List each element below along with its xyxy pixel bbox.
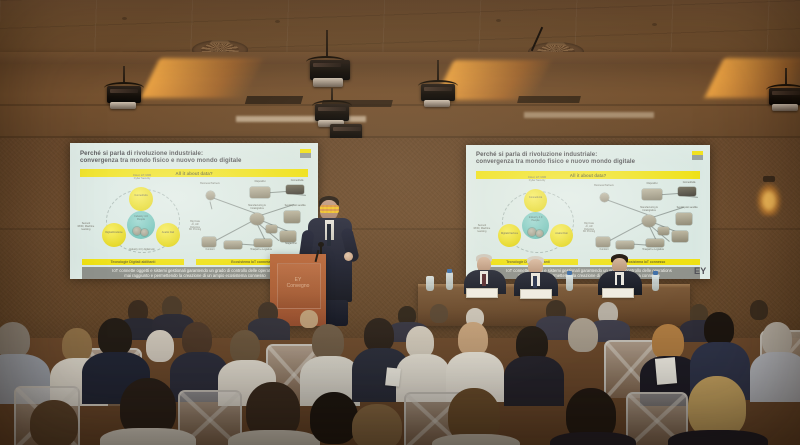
conference-photo: Perché si parla di rivoluzione industria…: [0, 0, 800, 445]
network-node: [266, 225, 277, 233]
program-paper: [655, 357, 677, 385]
network-node: [678, 187, 696, 196]
triad-node-label: Digitalizzazione: [498, 233, 521, 236]
network-node: [250, 187, 270, 198]
audience-head: [750, 300, 768, 320]
network-node: [286, 185, 304, 194]
network-node-label: Trasporti e Logistica: [638, 249, 668, 252]
stage-light: [418, 60, 458, 120]
slide-band-left: Tecnologie Digitali abilitanti: [82, 259, 184, 265]
bottle-cap: [653, 271, 658, 275]
audience-head: [430, 304, 448, 323]
presenter-tie: [327, 224, 331, 246]
fluorescent-strip: [524, 112, 654, 118]
triad-node-label: Analisi Dati: [550, 233, 573, 236]
slide-corner-logo: [692, 151, 703, 160]
audience-head: [146, 330, 174, 362]
slide-banner: All it about data?: [80, 169, 308, 177]
water-bottle: [566, 274, 573, 291]
network-node-label: Manufacturing & Intralogistica: [632, 207, 666, 212]
ey-logo: EY: [694, 266, 707, 276]
panelist: [596, 254, 644, 292]
audience-head: [62, 328, 92, 362]
bottle-cap: [447, 269, 452, 273]
audience-shoulders: [668, 430, 768, 445]
triad-side-caption: Sensori RFID, Machine learning: [468, 225, 496, 233]
network-node-hub: [250, 213, 264, 225]
network-diagram: Business Partners Dispositivi Connettivi…: [198, 181, 310, 257]
audience-head: [568, 318, 598, 352]
audience-shoulders: [550, 432, 636, 445]
panelist: [512, 256, 560, 292]
slide-title: Perché si parla di rivoluzione industria…: [476, 152, 664, 167]
network-node-label: Business Partners: [590, 185, 618, 188]
nameplate: [602, 288, 634, 298]
panelist-tie: [617, 275, 621, 286]
network-node-label: Connettività: [284, 180, 310, 183]
water-bottle: [652, 274, 659, 291]
network-node: [224, 241, 242, 249]
network-node: [616, 241, 634, 249]
ceiling-panel-grid: [0, 0, 800, 58]
audience-head: [688, 376, 746, 438]
network-node: [642, 189, 662, 200]
audience-head: [364, 318, 394, 352]
recessed-light-strip: [245, 96, 303, 104]
gear-icon: [528, 228, 536, 236]
audience-head: [0, 322, 30, 358]
audience-head: [312, 324, 344, 360]
audience-shoulders: [100, 428, 196, 445]
audience-head: [652, 324, 684, 360]
network-node-label: Fornitori: [198, 249, 222, 252]
network-node-label: Dispositivi: [246, 181, 274, 184]
triad-center-label: Industry 4.0 People: [127, 216, 155, 222]
audience-head: [300, 310, 318, 328]
network-node-hub: [642, 215, 656, 227]
network-node: [646, 239, 664, 247]
network-diagram: Business Partners Dispositivi Connettivi…: [592, 183, 702, 257]
gear-icon: [536, 230, 543, 237]
triad-side-caption: Cloud, IoT, M2M Cyber Security: [516, 177, 558, 183]
triad-node-label: Digitalizzazione: [102, 232, 126, 235]
network-node: [658, 227, 669, 235]
audience-head: [30, 400, 78, 445]
ceiling-fixture-dot: [496, 19, 501, 22]
triad-node: [129, 187, 153, 211]
nameplate: [520, 289, 552, 299]
triad-diagram: Industry 4.0 People Connettività Digital…: [96, 183, 188, 255]
triad-node-label: Analisi Dati: [156, 232, 180, 235]
stage-light: [104, 66, 144, 110]
network-node: [676, 213, 692, 225]
gear-icon: [141, 229, 148, 236]
network-node-label: Trasporti e Logistica: [246, 249, 276, 252]
audience-head: [182, 322, 212, 356]
audience-shoulders: [750, 352, 800, 402]
network-node-label: Business Partners: [196, 183, 224, 186]
triad-node: [156, 223, 180, 247]
audience-head: [352, 404, 402, 445]
network-node: [600, 193, 609, 202]
network-node-label: Servizi post-vendita: [674, 207, 700, 210]
network-node: [596, 237, 610, 247]
audience-head: [762, 322, 792, 356]
network-node-label: Dispositivi: [638, 183, 666, 186]
network-node: [202, 237, 216, 247]
network-node: [254, 239, 272, 247]
audience-head: [704, 312, 734, 346]
face-blur-overlay: [320, 205, 339, 213]
gear-icon: [133, 227, 141, 235]
ceiling-light-wash: [140, 58, 264, 98]
triad-node: [102, 223, 126, 247]
network-node: [284, 211, 300, 223]
slide-banner: All it about data?: [476, 171, 700, 179]
network-node-label: Manufacturing & Intralogistica: [240, 205, 274, 210]
wall-sconce-icon: [756, 182, 782, 216]
triad-node-label: Connettività: [524, 197, 547, 200]
audience-shoulders: [504, 356, 564, 406]
nameplate: [466, 288, 498, 298]
audience-shoulders: [228, 430, 320, 445]
triad-side-caption: Sensori RFID, Machine learning: [72, 223, 100, 231]
ceiling-fixture-dot: [275, 20, 280, 23]
network-node: [280, 231, 296, 242]
slide-corner-logo: [300, 149, 311, 158]
audience-shoulders: [432, 434, 520, 445]
audience-head: [230, 330, 260, 364]
panelist: [462, 254, 508, 290]
water-bottle: [446, 272, 453, 290]
recessed-light-strip: [517, 96, 581, 103]
water-bottle: [426, 276, 434, 291]
bottle-cap: [567, 271, 572, 275]
panelist-tie: [533, 276, 537, 288]
network-node-label: Fornitori: [592, 249, 616, 252]
triad-node-label: Connettività: [129, 195, 153, 198]
panelist-tie: [482, 274, 486, 286]
network-node: [206, 191, 215, 200]
triad-node: [524, 189, 547, 212]
presenter-hand: [344, 252, 353, 261]
triad-center-label: Industry 4.0 People: [522, 217, 549, 223]
ceiling-fixture-dot: [122, 17, 127, 20]
stage-light: [766, 68, 800, 116]
slide-title: Perché si parla di rivoluzione industria…: [80, 150, 270, 165]
triad-side-caption: Cloud, IoT, M2M Cyber Security: [120, 175, 164, 181]
audience-head: [458, 322, 488, 356]
program-paper: [385, 367, 401, 386]
triad-diagram: Industry 4.0 People Connettività Digital…: [492, 185, 584, 255]
audience-head: [98, 318, 132, 356]
audience-head: [310, 392, 358, 444]
ceiling-fixture-dot: [652, 23, 657, 26]
network-node: [672, 231, 688, 242]
lectern-branding: EY Convegno: [279, 278, 317, 290]
network-node-label: Connettività: [676, 182, 702, 185]
triad-bottom-caption: Industry 4.0 | digital twin: [114, 249, 170, 252]
